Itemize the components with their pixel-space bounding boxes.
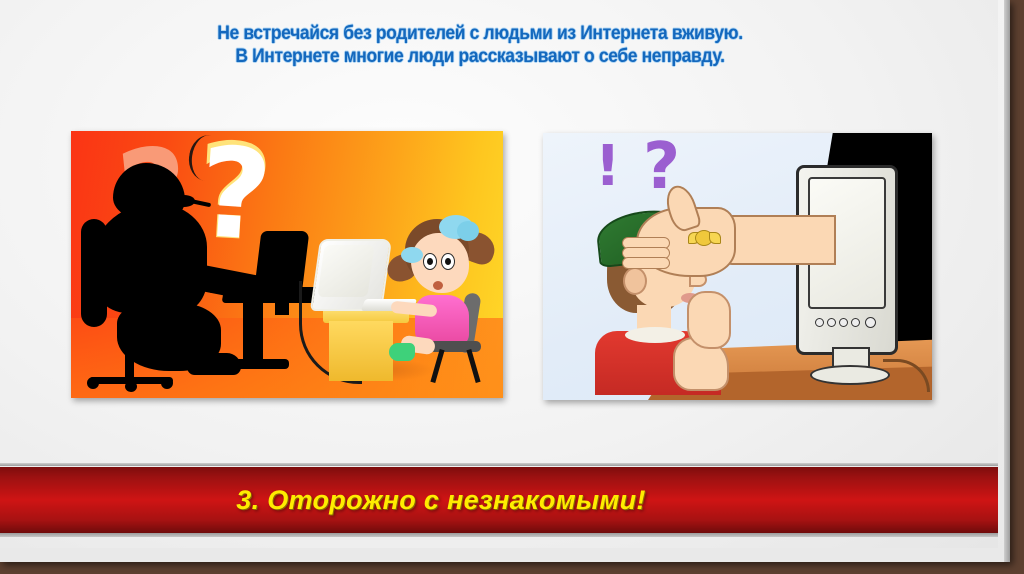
girl-shoe bbox=[389, 343, 415, 361]
slide-stage: Не встречайся без родителей с людьми из … bbox=[0, 0, 1024, 574]
title-line-1: Не встречайся без родителей с людьми из … bbox=[217, 23, 742, 44]
candy-icon bbox=[688, 229, 718, 245]
bottom-banner: 3. Оторожно с незнакомыми! bbox=[0, 467, 998, 533]
monitor-stand-base bbox=[810, 365, 890, 385]
boy-collar bbox=[625, 327, 685, 343]
illustration-right: ! ? bbox=[543, 133, 932, 400]
banner-text: 3. Оторожно с незнакомыми! bbox=[236, 485, 645, 516]
girl-bow-small bbox=[401, 247, 423, 263]
girl-mouth bbox=[433, 281, 443, 290]
chair-wheel bbox=[87, 377, 99, 389]
monitor-buttons bbox=[812, 313, 886, 329]
cigarette-icon bbox=[189, 199, 211, 207]
girl-pupil-right bbox=[445, 258, 451, 265]
man-head bbox=[113, 163, 185, 223]
dark-desk-foot bbox=[231, 359, 289, 369]
girl-chair-seat bbox=[429, 341, 481, 352]
boy-ear bbox=[623, 267, 647, 295]
monitor-button bbox=[815, 318, 824, 327]
chair-wheel bbox=[161, 377, 173, 389]
monitor-button bbox=[827, 318, 836, 327]
bottom-banner-area: 3. Оторожно с незнакомыми! bbox=[0, 467, 998, 537]
illustration-left: ? ? ? bbox=[71, 131, 503, 398]
girl-chair-leg bbox=[430, 349, 444, 383]
slide-frame: Не встречайся без родителей с людьми из … bbox=[0, 0, 1010, 562]
girl-character bbox=[383, 211, 501, 381]
boy-hand bbox=[687, 291, 731, 349]
candy-wrapper-right bbox=[709, 232, 721, 244]
power-button-icon bbox=[865, 317, 876, 328]
banner-bottom-divider bbox=[0, 533, 998, 537]
chair-wheel bbox=[125, 381, 137, 392]
monitor-button bbox=[839, 318, 848, 327]
girl-monitor-screen bbox=[317, 245, 374, 297]
slide-canvas: Не встречайся без родителей с людьми из … bbox=[0, 0, 998, 548]
title-line-2: В Интернете многие люди рассказывают о с… bbox=[38, 45, 921, 68]
dark-monitor-stand bbox=[275, 299, 289, 315]
exclamation-mark-icon: ! bbox=[595, 139, 621, 195]
slide-title: Не встречайся без родителей с людьми из … bbox=[38, 22, 921, 68]
girl-bow-knot bbox=[457, 221, 479, 241]
stranger-finger bbox=[622, 257, 670, 269]
dark-desk-leg bbox=[243, 299, 263, 365]
girl-pupil-left bbox=[427, 258, 433, 265]
girl-chair-leg bbox=[466, 349, 480, 383]
monitor-button bbox=[851, 318, 860, 327]
banner-top-divider bbox=[0, 463, 998, 466]
